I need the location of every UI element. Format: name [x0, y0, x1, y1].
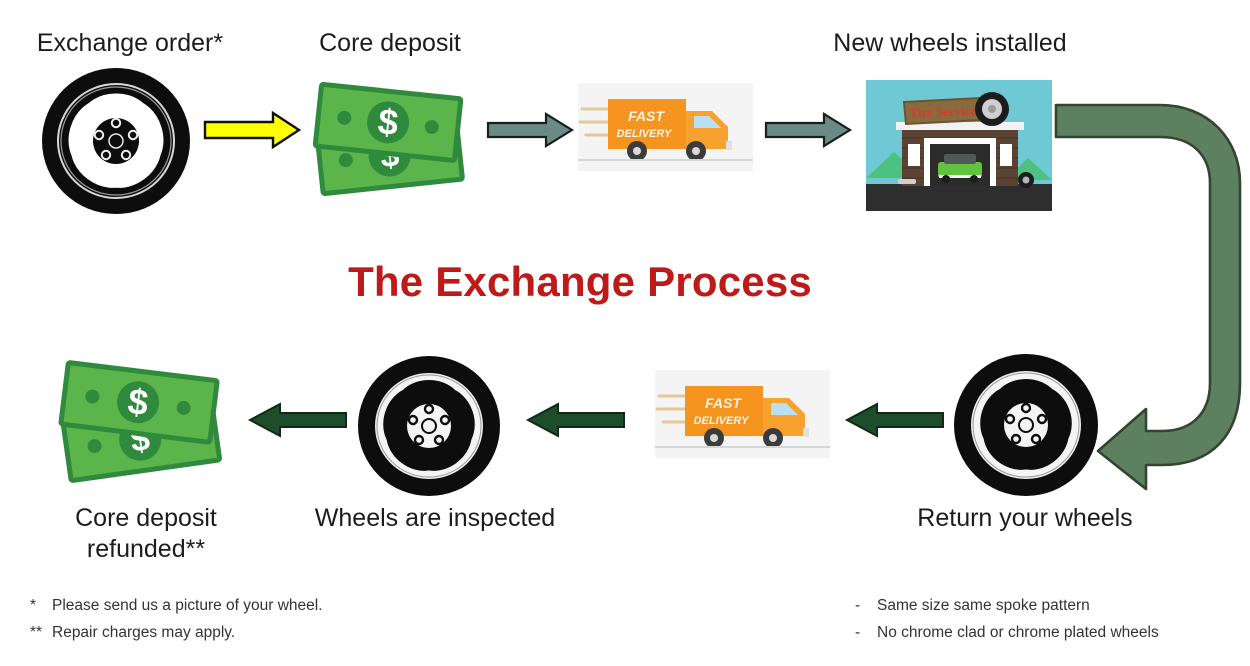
footnote-right-1-text: Same size same spoke pattern [877, 597, 1090, 614]
footnote-right-2-marker: - [855, 619, 877, 646]
page-title: The Exchange Process [0, 258, 1160, 306]
truck-return-text-fast: FAST [705, 395, 742, 411]
truck-text-fast: FAST [628, 108, 665, 124]
footnote-left-2-marker: ** [30, 619, 52, 646]
footnote-right-2: -No chrome clad or chrome plated wheels [855, 619, 1159, 646]
tire-service-shop-icon: Tire Service [866, 80, 1052, 211]
footnote-right-2-text: No chrome clad or chrome plated wheels [877, 624, 1159, 641]
money-symbol-upper: $ [376, 100, 400, 143]
wheel-black-icon [40, 66, 192, 216]
footnote-right-1-marker: - [855, 592, 877, 619]
label-core-deposit-refunded-line2: refunded** [36, 534, 256, 565]
arrow-return-to-truck [843, 400, 945, 440]
arrow-order-to-deposit [203, 110, 303, 150]
footnote-left-1: *Please send us a picture of your wheel. [30, 592, 323, 619]
money-refund-icon: $ $ [56, 358, 236, 488]
arrow-deposit-to-truck [486, 110, 576, 150]
label-core-deposit-refunded: Core deposit refunded** [36, 503, 256, 566]
arrow-truck-to-inspect [524, 400, 626, 440]
label-core-deposit-refunded-line1: Core deposit [36, 503, 256, 534]
wheel-silver-icon [356, 354, 502, 498]
arrow-truck-to-shop [764, 110, 854, 150]
footnote-left-2-text: Repair charges may apply. [52, 624, 235, 641]
delivery-truck-icon: FAST DELIVERY [578, 83, 753, 171]
label-new-wheels-installed: New wheels installed [800, 28, 1100, 59]
footnote-left-2: **Repair charges may apply. [30, 619, 323, 646]
arrow-inspect-to-refund [246, 400, 348, 440]
truck-return-text-delivery: DELIVERY [694, 415, 750, 427]
label-wheels-inspected: Wheels are inspected [290, 503, 580, 534]
label-exchange-order: Exchange order* [10, 28, 250, 59]
footnote-right-1: -Same size same spoke pattern [855, 592, 1159, 619]
label-return-your-wheels: Return your wheels [890, 503, 1160, 534]
money-icon: $ $ [312, 78, 477, 203]
footnote-left-1-text: Please send us a picture of your wheel. [52, 597, 323, 614]
footnote-left-1-marker: * [30, 592, 52, 619]
delivery-truck-return-icon: FAST DELIVERY [655, 370, 830, 458]
wheel-return-icon [952, 352, 1100, 498]
exchange-process-diagram: Exchange order* Core deposit New wheels … [0, 0, 1250, 666]
label-core-deposit: Core deposit [280, 28, 500, 59]
truck-text-delivery: DELIVERY [617, 128, 673, 140]
footnotes-left: *Please send us a picture of your wheel.… [30, 592, 323, 646]
shop-sign-text: Tire Service [909, 103, 977, 120]
footnotes-right: -Same size same spoke pattern -No chrome… [855, 592, 1159, 646]
